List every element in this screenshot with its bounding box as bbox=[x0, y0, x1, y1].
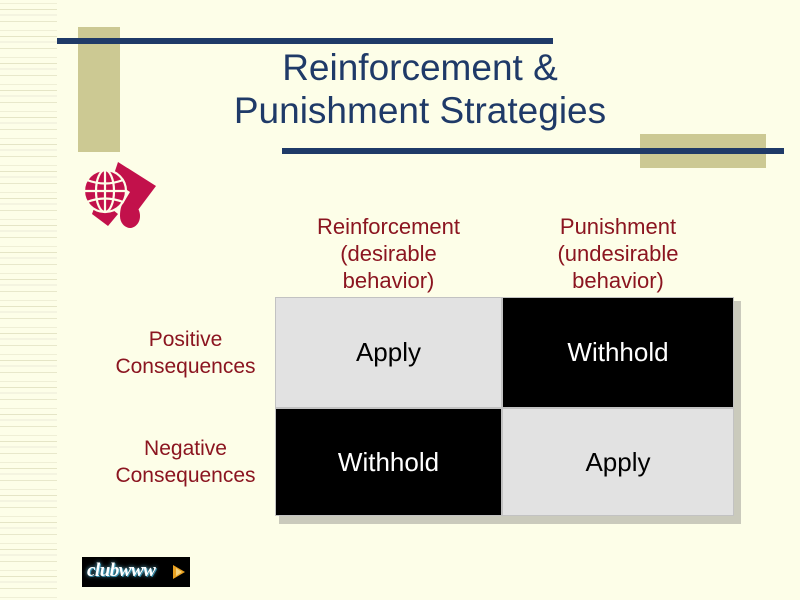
row-header-negative-consequences: Negative Consequences bbox=[104, 408, 275, 516]
column-header-reinforcement: Reinforcement (desirable behavior) bbox=[275, 193, 502, 297]
clubwww-arrow-mark-icon bbox=[171, 563, 187, 581]
row-header-positive-consequences: Positive Consequences bbox=[104, 297, 275, 408]
matrix-corner-blank bbox=[104, 193, 275, 297]
clubwww-logo-text: clubwww bbox=[87, 560, 155, 582]
matrix-cell-positive-punishment: Withhold bbox=[502, 297, 734, 408]
slide-canvas: Reinforcement & Punishment Strategies bbox=[0, 0, 800, 600]
blue-rule-bottom-decoration bbox=[282, 148, 784, 154]
blue-rule-top-decoration bbox=[57, 38, 553, 44]
slide-title: Reinforcement & Punishment Strategies bbox=[120, 46, 720, 132]
column-header-punishment: Punishment (undesirable behavior) bbox=[502, 193, 734, 297]
left-stripe-decoration bbox=[0, 0, 57, 600]
reinforcement-punishment-matrix: Reinforcement (desirable behavior) Punis… bbox=[104, 193, 744, 523]
tan-bar-left-decoration bbox=[78, 27, 120, 152]
matrix-cell-negative-reinforcement: Withhold bbox=[275, 408, 502, 516]
clubwww-logo: clubwww bbox=[82, 557, 190, 587]
matrix-cell-negative-punishment: Apply bbox=[502, 408, 734, 516]
matrix-cell-positive-reinforcement: Apply bbox=[275, 297, 502, 408]
